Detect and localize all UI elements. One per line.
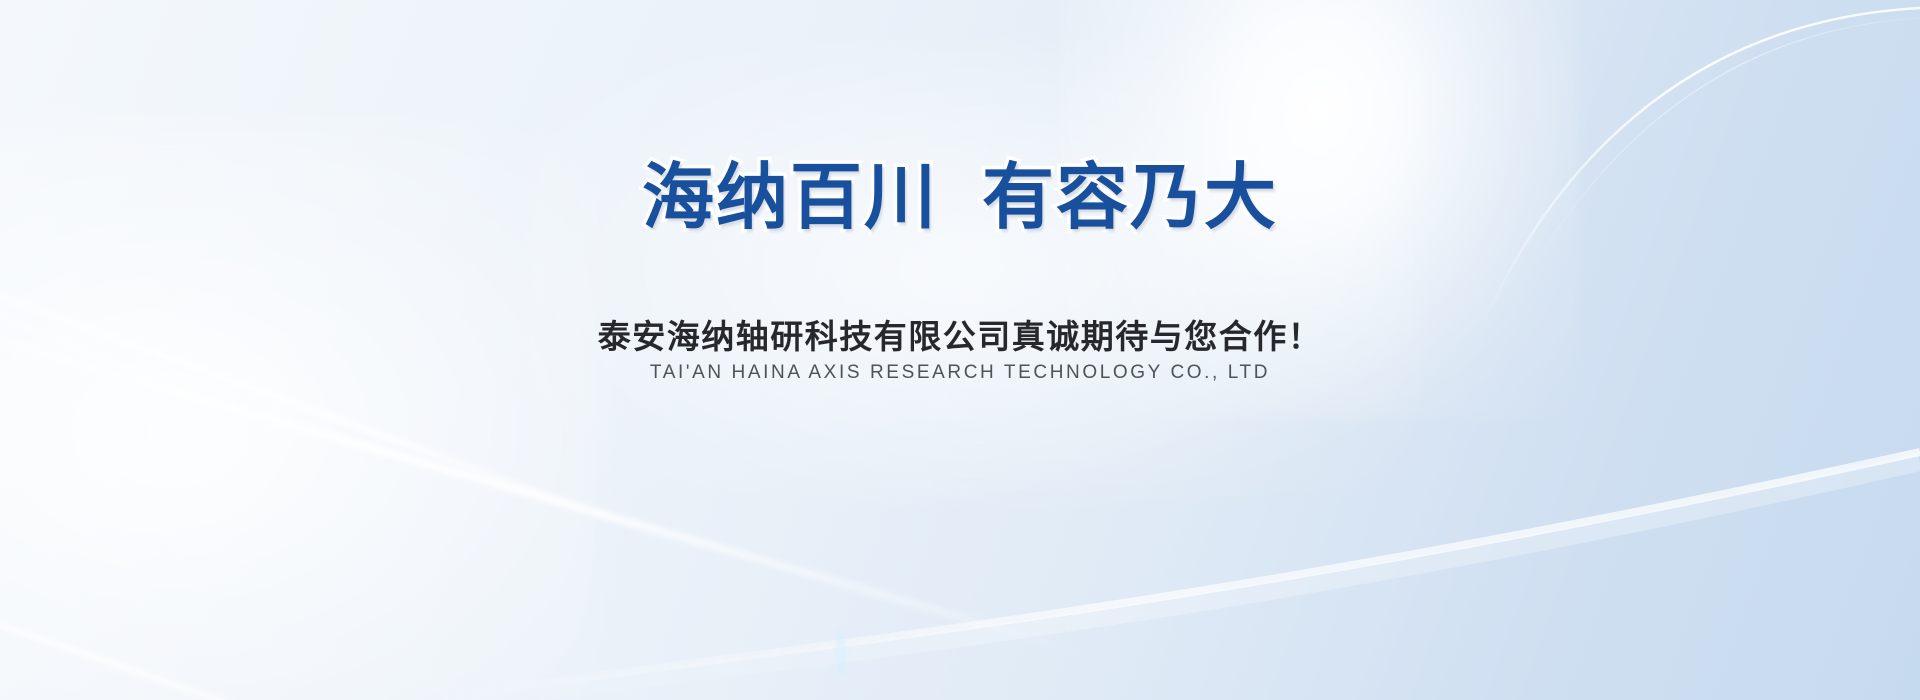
promo-banner: 海纳百川 有容乃大 泰安海纳轴研科技有限公司真诚期待与您合作！ TAI'AN H…	[0, 0, 1920, 700]
arc-bottom-sweep-glow	[430, 462, 1920, 700]
light-streak	[0, 546, 442, 700]
banner-subtitle-chinese: 泰安海纳轴研科技有限公司真诚期待与您合作！	[0, 310, 1920, 358]
banner-headline: 海纳百川 有容乃大	[0, 162, 1920, 234]
light-streak	[0, 238, 694, 551]
glow-center	[520, 40, 1420, 500]
arc-bottom-sweep	[430, 452, 1920, 700]
banner-subtitle-english: TAI'AN HAINA AXIS RESEARCH TECHNOLOGY CO…	[0, 362, 1920, 384]
spark-highlight	[836, 630, 846, 676]
